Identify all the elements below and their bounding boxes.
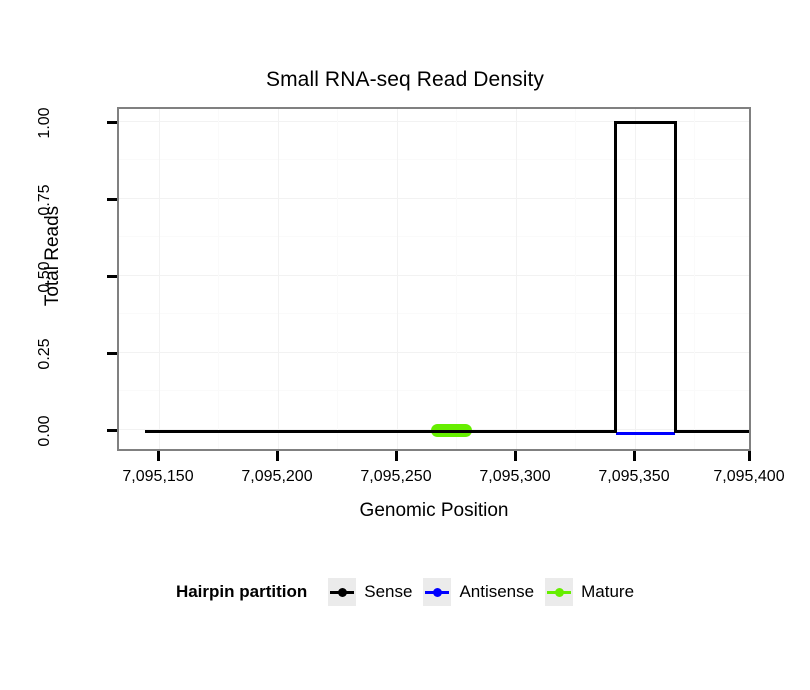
legend-label-antisense: Antisense: [459, 582, 534, 602]
gridline-minor-vertical: [575, 109, 576, 449]
series-sense-baseline-right: [674, 430, 749, 433]
y-tick-mark: [107, 429, 117, 432]
y-tick-mark: [107, 352, 117, 355]
series-sense-peak: [614, 121, 677, 433]
x-tick-label: 7,095,400: [679, 468, 810, 486]
plot-area: [119, 109, 749, 449]
gridline-major-vertical: [516, 109, 517, 449]
gridline-minor-vertical: [218, 109, 219, 449]
legend-label-sense: Sense: [364, 582, 412, 602]
x-axis-title: Genomic Position: [117, 500, 751, 522]
x-tick-mark: [633, 451, 636, 461]
gridline-minor-vertical: [337, 109, 338, 449]
gridline-major-vertical: [159, 109, 160, 449]
legend-item-sense[interactable]: Sense: [328, 578, 412, 606]
y-tick-mark: [107, 198, 117, 201]
legend-key-sense-icon: [328, 578, 356, 606]
plot-panel: [117, 107, 751, 451]
series-sense-baseline-left: [145, 430, 617, 433]
x-tick-mark: [276, 451, 279, 461]
legend-title: Hairpin partition: [176, 582, 307, 602]
legend-item-antisense[interactable]: Antisense: [423, 578, 534, 606]
x-tick-mark: [157, 451, 160, 461]
x-tick-mark: [748, 451, 751, 461]
gridline-minor-vertical: [694, 109, 695, 449]
chart-figure: Small RNA-seq Read Density Total Reads G…: [0, 0, 810, 690]
chart-title: Small RNA-seq Read Density: [0, 68, 810, 92]
x-tick-mark: [395, 451, 398, 461]
x-tick-mark: [514, 451, 517, 461]
legend: Hairpin partition Sense Antisense Mature: [0, 578, 810, 606]
gridline-minor-vertical: [456, 109, 457, 449]
legend-item-mature[interactable]: Mature: [545, 578, 634, 606]
legend-key-antisense-icon: [423, 578, 451, 606]
gridline-major-vertical: [397, 109, 398, 449]
gridline-major-vertical: [278, 109, 279, 449]
legend-key-mature-icon: [545, 578, 573, 606]
legend-label-mature: Mature: [581, 582, 634, 602]
y-tick-mark: [107, 121, 117, 124]
y-tick-label: 1.00: [36, 73, 54, 173]
y-tick-mark: [107, 275, 117, 278]
